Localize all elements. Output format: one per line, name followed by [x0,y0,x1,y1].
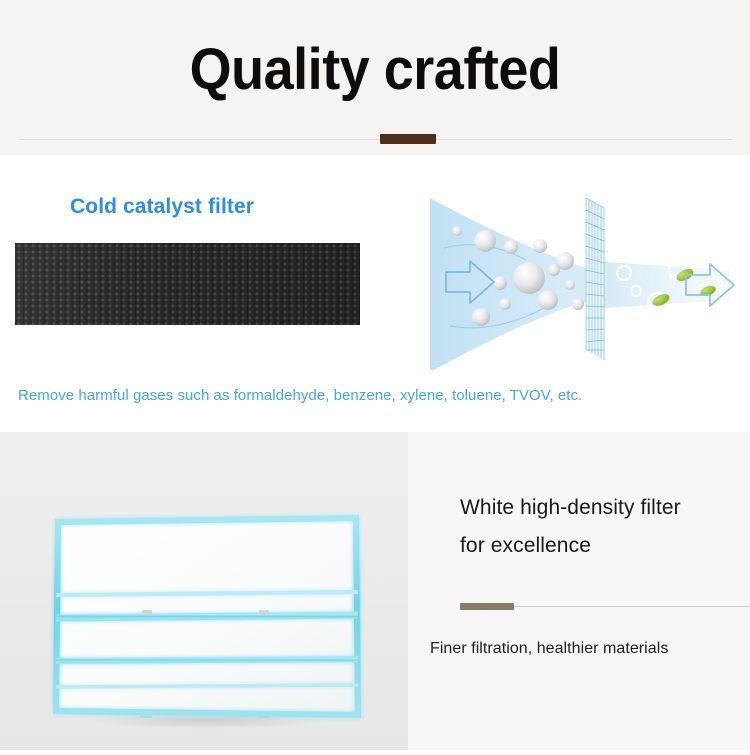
cold-catalyst-title: Cold catalyst filter [70,195,254,219]
dust-particle [493,276,507,290]
header-divider [18,139,732,140]
page-title: Quality crafted [26,36,724,103]
high-density-filter-section: White high-density filter for excellence… [0,432,750,750]
header-accent-bar [380,134,436,144]
product-feature-page: Quality crafted Cold catalyst filter [0,0,750,750]
dust-particle [572,298,584,310]
high-density-filter-heading: White high-density filter for excellence [460,489,750,565]
dust-particle [504,240,518,254]
dust-particle [452,226,462,236]
dust-particle [474,230,496,252]
dust-particle [548,264,560,276]
mesh-screen [586,198,604,360]
dust-particle [565,280,575,290]
dust-particle [472,308,490,326]
cold-catalyst-caption: Remove harmful gases such as formaldehyd… [18,387,582,404]
panel-sheen [15,243,360,325]
page-header: Quality crafted [0,0,750,155]
heading-line-2: for excellence [460,527,750,565]
filter-foot [140,711,152,718]
section-two-accent-bar [460,603,514,610]
white-high-density-filter-frame [0,432,408,750]
cold-catalyst-section: Cold catalyst filter [0,155,750,432]
inlet-airflow-cone [430,198,586,370]
high-density-filter-text-panel: White high-density filter for excellence… [408,432,750,750]
dust-particle [513,262,545,294]
dust-particle [533,239,547,253]
cold-catalyst-honeycomb-panel [15,243,360,325]
dust-particle [538,290,558,310]
high-density-filter-caption: Finer filtration, healthier materials [430,640,668,658]
filter-clip [142,610,152,615]
dust-particle [499,298,511,310]
heading-line-1: White high-density filter [460,489,750,527]
airflow-filtration-diagram [408,190,742,370]
filter-image-panel [0,432,408,750]
filter-foot [258,711,270,718]
filter-clip [259,610,269,615]
